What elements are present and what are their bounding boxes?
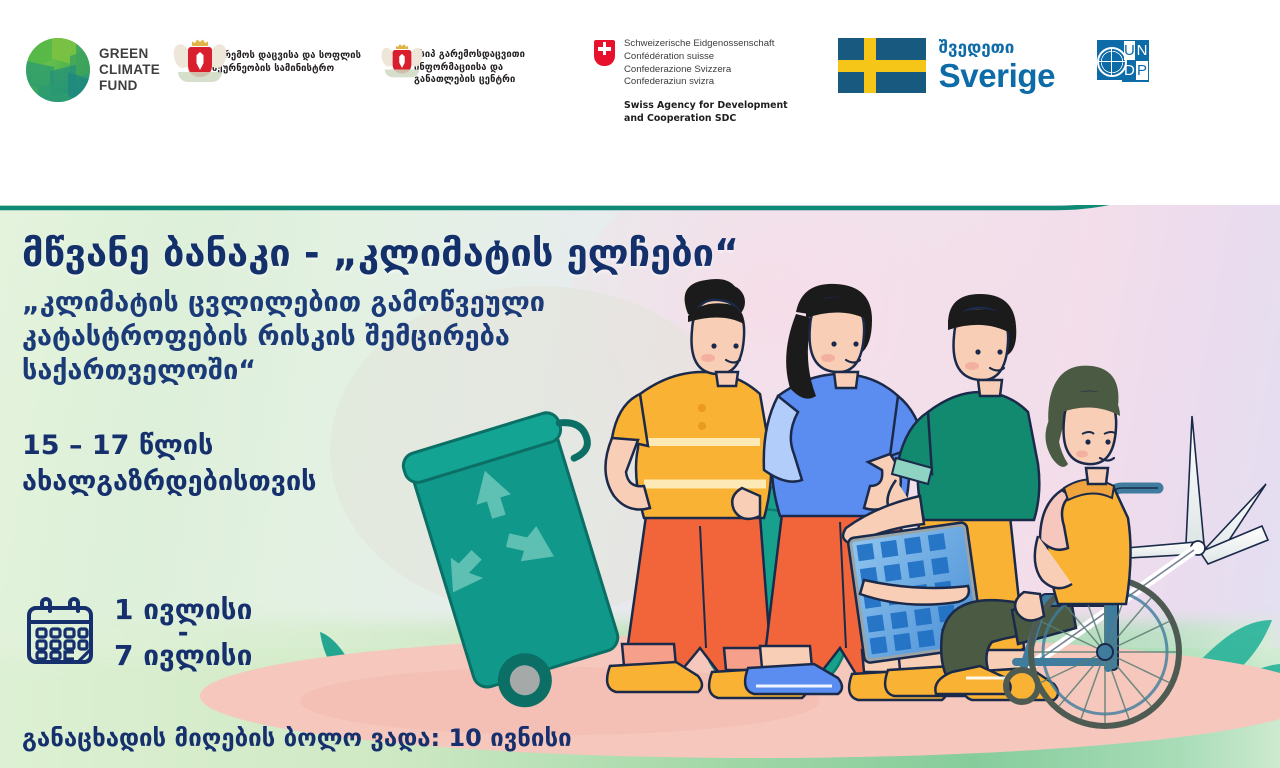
logo-undp: U N D P (1097, 38, 1149, 82)
undp-letter-n: N (1136, 41, 1147, 60)
georgia-coat-of-arms-small-icon (393, 43, 412, 73)
gcf-line-2: CLIMATE (99, 62, 160, 78)
swiss-line-fr: Confédération suisse (624, 51, 788, 64)
logo-ministry-environment: გარემოს დაცვისა და სოფლის მეურნეობის სამ… (188, 38, 364, 77)
calendar-icon (22, 595, 98, 671)
date-dash: - (114, 626, 252, 640)
swiss-line-rm: Confederaziun svizra (624, 76, 788, 89)
swiss-agency-line-1: Swiss Agency for Development (624, 100, 788, 112)
swiss-line-de: Schweizerische Eidgenossenschaft (624, 38, 788, 51)
application-deadline: განაცხადის მიღების ბოლო ვადა: 10 ივნისი (22, 724, 572, 752)
gcf-globe-icon (26, 38, 90, 102)
swiss-confederation-names: Schweizerische Eidgenossenschaft Confédé… (624, 38, 788, 89)
logo-environmental-info-center: სსიპ გარემოსდაცვითი ინფორმაციისა და განა… (390, 38, 550, 87)
swiss-agency-line-2: and Cooperation SDC (624, 113, 788, 125)
sweden-label-en: Sverige (939, 58, 1055, 93)
page-title: მწვანე ბანაკი - „კლიმატის ელჩები“ (22, 230, 739, 276)
project-subtitle: „კლიმატის ცვლილებით გამოწვეული კატასტროფ… (22, 286, 739, 388)
swiss-flag-icon (594, 40, 615, 66)
sweden-label-ka: შვედეთი (939, 38, 1055, 58)
date-range: 1 ივლისი - 7 ივლისი (114, 594, 252, 672)
logo-bar: GREEN CLIMATE FUND გარემოს დაცვისა და სო… (0, 0, 1280, 205)
swiss-line-it: Confederazione Svizzera (624, 64, 788, 77)
age-range-text: 15 – 17 წლის ახალგაზრდებისთვის (22, 428, 739, 500)
poster: GREEN CLIMATE FUND გარემოს დაცვისა და სო… (0, 0, 1280, 768)
undp-globe-icon (1097, 40, 1122, 80)
gcf-wordmark: GREEN CLIMATE FUND (99, 46, 160, 94)
logo-swiss-cooperation: Schweizerische Eidgenossenschaft Confédé… (594, 38, 788, 125)
subtitle-line-2: კატასტროფების რისკის შემცირება (22, 320, 739, 354)
date-block: 1 ივლისი - 7 ივლისი (22, 594, 252, 672)
poster-body: მწვანე ბანაკი - „კლიმატის ელჩები“ „კლიმა… (0, 196, 1280, 768)
swiss-agency-name: Swiss Agency for Development and Coopera… (624, 100, 788, 125)
info-center-caption: სსიპ გარემოსდაცვითი ინფორმაციისა და განა… (414, 49, 550, 87)
sweden-flag-icon (838, 38, 926, 93)
age-line-1: 15 – 17 წლის (22, 428, 739, 464)
ministry-caption: გარემოს დაცვისა და სოფლის მეურნეობის სამ… (212, 50, 364, 75)
gcf-line-1: GREEN (99, 46, 160, 62)
undp-letter-p: P (1136, 61, 1147, 80)
logo-row: GREEN CLIMATE FUND გარემოს დაცვისა და სო… (26, 38, 1149, 125)
subtitle-line-3: საქართველოში“ (22, 354, 739, 388)
logo-green-climate-fund: GREEN CLIMATE FUND (26, 38, 166, 102)
georgia-coat-of-arms-icon (188, 38, 212, 77)
date-to: 7 ივლისი (114, 640, 252, 672)
subtitle-line-1: „კლიმატის ცვლილებით გამოწვეული (22, 286, 739, 320)
logo-sweden: შვედეთი Sverige (838, 38, 1055, 93)
gcf-line-3: FUND (99, 78, 160, 94)
age-line-2: ახალგაზრდებისთვის (22, 464, 739, 500)
headline-block: მწვანე ბანაკი - „კლიმატის ელჩები“ „კლიმა… (22, 230, 739, 500)
